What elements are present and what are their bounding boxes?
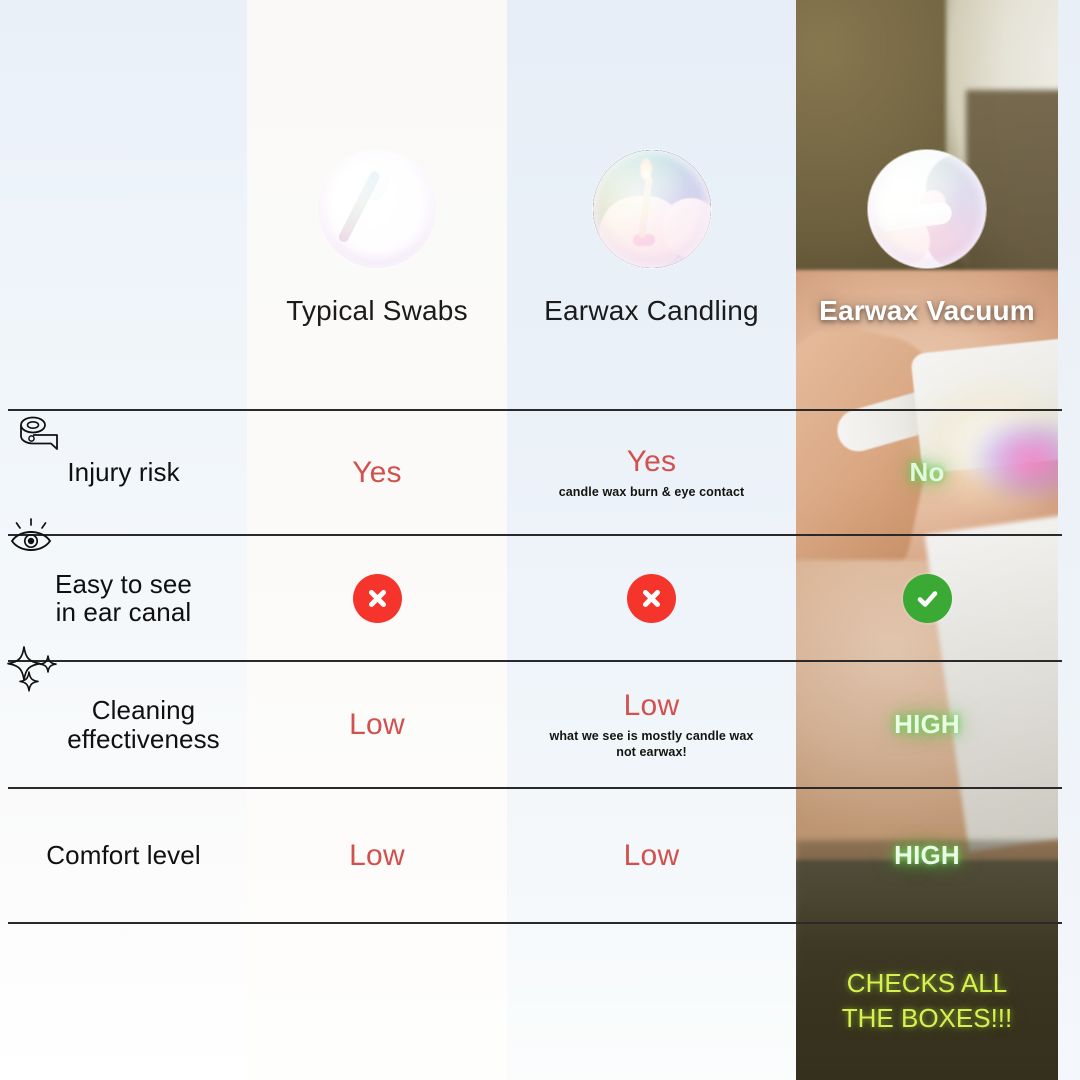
sparkles-icon	[3, 644, 65, 696]
row-header-easy-to-see: Easy to see in ear canal	[0, 536, 247, 660]
cross-icon	[364, 585, 391, 612]
cell-swabs-easy-to-see	[247, 536, 507, 660]
row-label-cleaning-effectiveness: Cleaning effectiveness	[67, 696, 220, 752]
cell-candling-injury-risk: Yes candle wax burn & eye contact	[507, 411, 796, 534]
row-label-easy-to-see: Easy to see in ear canal	[55, 570, 192, 626]
row-label-comfort-level: Comfort level	[46, 841, 200, 869]
row-label-injury-risk: Injury risk	[67, 458, 179, 486]
check-icon	[913, 584, 942, 613]
cell-swabs-injury-risk: Yes	[247, 411, 507, 534]
cross-icon	[638, 585, 665, 612]
cell-vacuum-cleaning-effectiveness: HIGH	[796, 662, 1058, 787]
cross-badge-icon	[353, 574, 402, 623]
eye-icon	[4, 514, 58, 560]
vacuum-title: Earwax Vacuum	[796, 295, 1058, 327]
value-subtext: what we see is mostly candle wax not ear…	[550, 729, 754, 760]
table-row-easy-to-see: Easy to see in ear canal	[0, 536, 1080, 660]
cell-swabs-cleaning-effectiveness: Low	[247, 662, 507, 787]
cell-candling-cleaning-effectiveness: Low what we see is mostly candle wax not…	[507, 662, 796, 787]
comparison-chart: Typical Swabs Earwax Candling	[0, 0, 1080, 1080]
cell-vacuum-injury-risk: No	[796, 411, 1058, 534]
check-badge-icon	[903, 574, 952, 623]
value-text: Yes	[627, 445, 677, 479]
header-row: Typical Swabs Earwax Candling	[0, 0, 1080, 409]
checks-all-boxes-text: CHECKS ALL THE BOXES!!!	[842, 966, 1013, 1036]
value-text: Yes	[352, 456, 402, 490]
cell-candling-easy-to-see	[507, 536, 796, 660]
value-text: Low	[624, 689, 680, 723]
value-text: HIGH	[894, 709, 960, 740]
candling-title: Earwax Candling	[507, 295, 796, 327]
cell-vacuum-easy-to-see	[796, 536, 1058, 660]
value-subtext: candle wax burn & eye contact	[559, 485, 745, 501]
value-text: No	[909, 457, 944, 488]
swabs-title: Typical Swabs	[247, 295, 507, 327]
swabs-thumbnail	[318, 150, 436, 268]
row-header-cleaning-effectiveness: Cleaning effectiveness	[0, 662, 247, 787]
cell-vacuum-comfort-level: HIGH	[796, 789, 1058, 922]
row-header-comfort-level: Comfort level	[0, 789, 247, 922]
column-header-candling: Earwax Candling	[507, 0, 796, 409]
vacuum-thumbnail	[868, 150, 986, 268]
cross-badge-icon	[627, 574, 676, 623]
table-row-injury-risk: Injury risk Yes Yes candle wax burn & ey…	[0, 411, 1080, 534]
vacuum-summary-callout: CHECKS ALL THE BOXES!!!	[796, 922, 1058, 1080]
table-row-cleaning-effectiveness: Cleaning effectiveness Low Low what we s…	[0, 662, 1080, 787]
value-text: HIGH	[894, 840, 960, 871]
table-row-comfort-level: Comfort level Low Low HIGH	[0, 789, 1080, 922]
cell-swabs-comfort-level: Low	[247, 789, 507, 922]
candling-thumbnail	[593, 150, 711, 268]
column-header-vacuum: Earwax Vacuum	[796, 0, 1058, 409]
bandage-roll-icon	[9, 414, 67, 458]
value-text: Low	[624, 839, 680, 873]
column-header-swabs: Typical Swabs	[247, 0, 507, 409]
value-text: Low	[349, 839, 405, 873]
cell-candling-comfort-level: Low	[507, 789, 796, 922]
value-text: Low	[349, 708, 405, 742]
